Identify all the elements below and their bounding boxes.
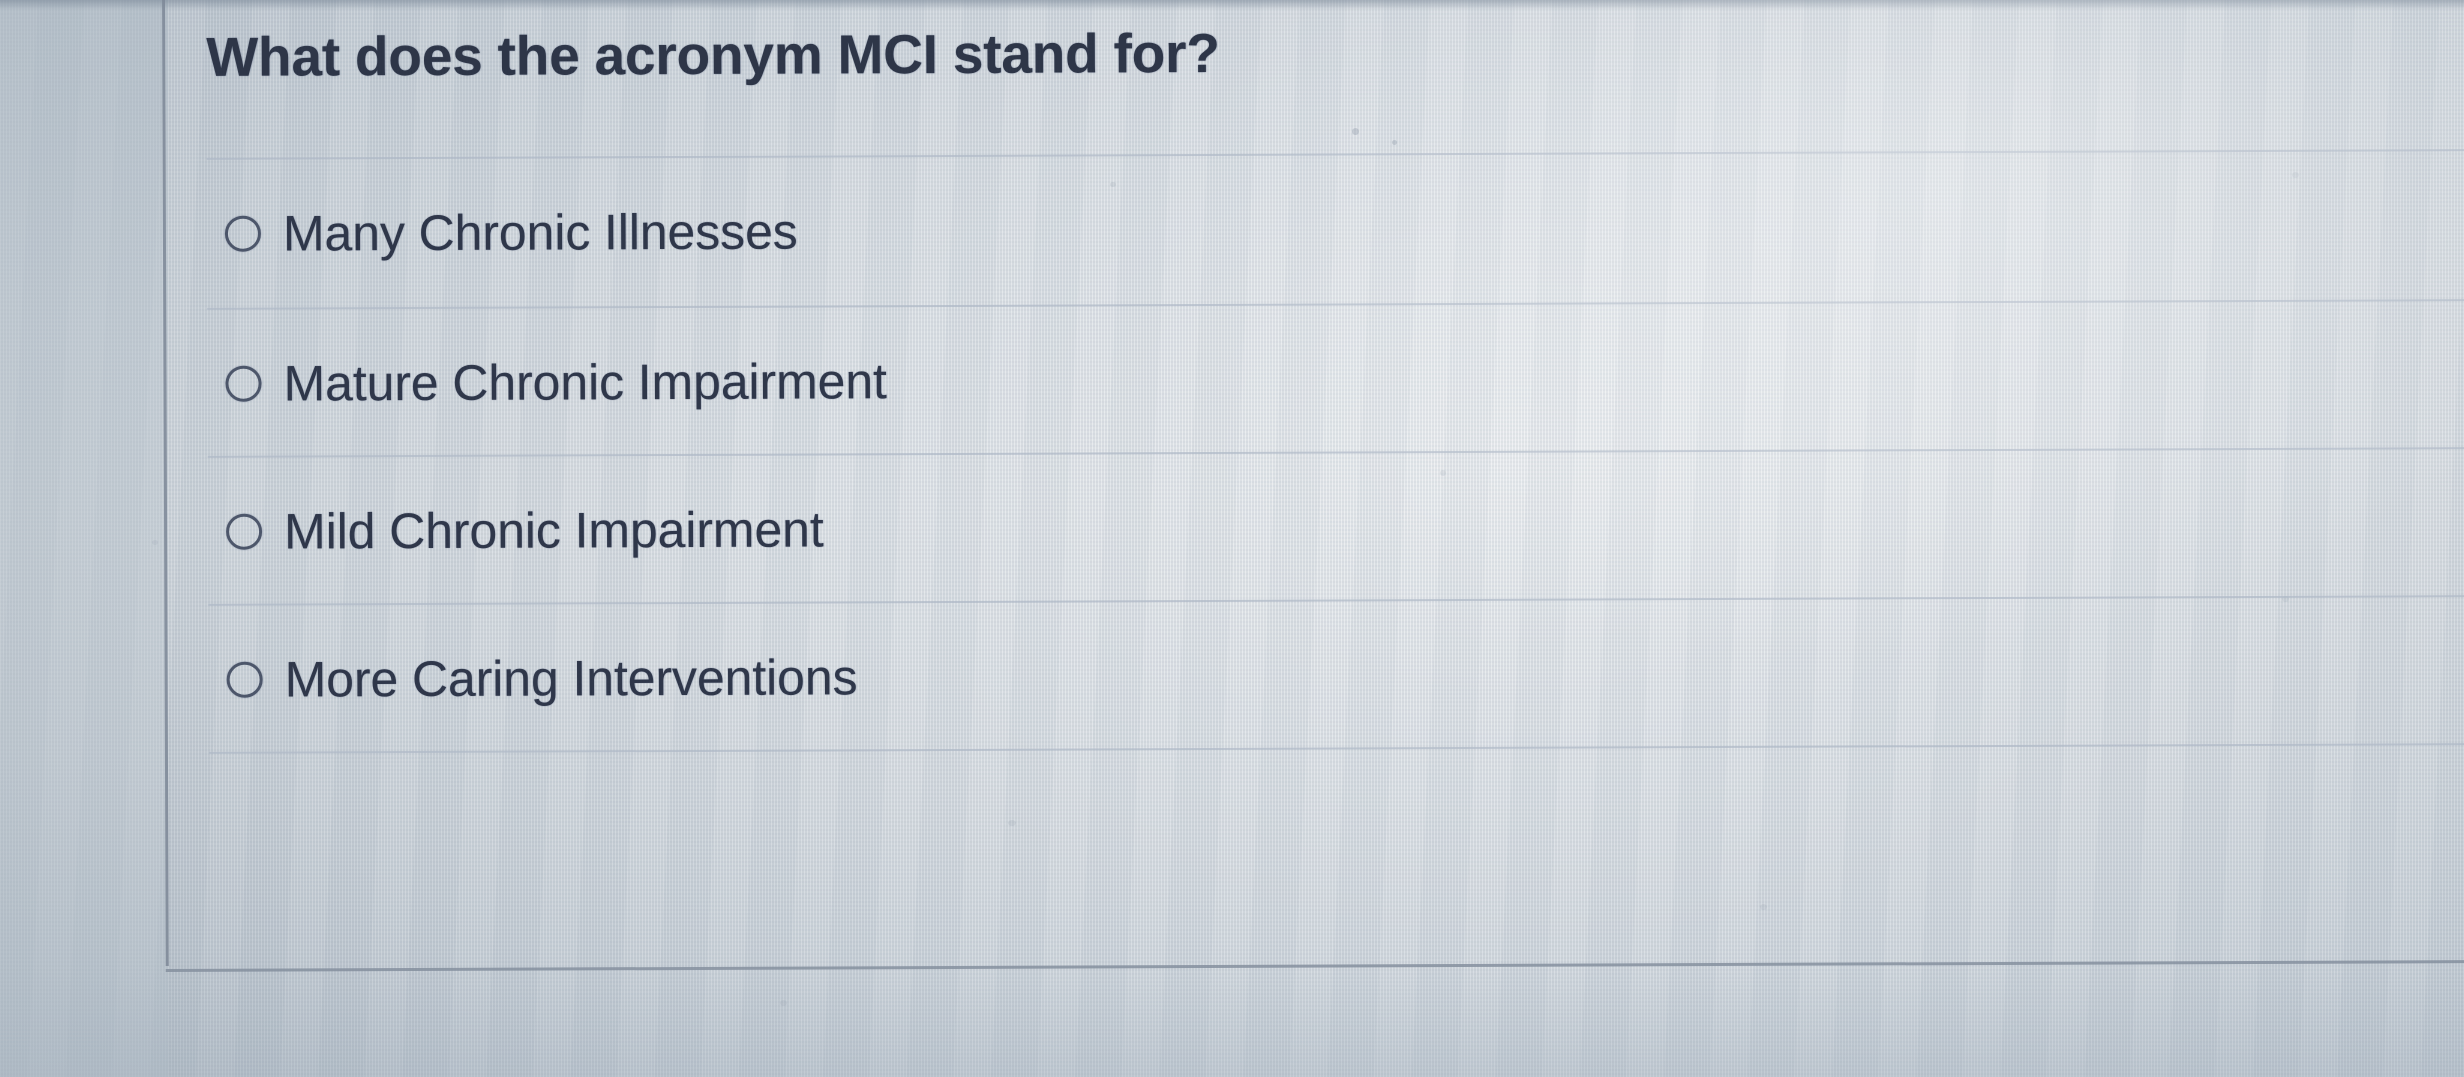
answer-option-3[interactable]: Mild Chronic Impairment — [208, 449, 2464, 606]
question-text: What does the acronym MCI stand for? — [206, 20, 1806, 89]
answer-option-label: Many Chronic Illnesses — [283, 204, 798, 261]
screen-bottom-edge — [0, 965, 2464, 1077]
answer-option-label: Mature Chronic Impairment — [283, 354, 886, 411]
answer-option-label: More Caring Interventions — [285, 650, 858, 707]
page-margin-left — [0, 0, 168, 1077]
question-card: What does the acronym MCI stand for? Man… — [162, 0, 2464, 972]
answer-option-4[interactable]: More Caring Interventions — [208, 597, 2464, 754]
answer-option-1[interactable]: Many Chronic Illnesses — [207, 151, 2464, 308]
photographed-screen: What does the acronym MCI stand for? Man… — [0, 0, 2464, 1077]
radio-button-icon[interactable] — [225, 216, 261, 252]
radio-button-icon[interactable] — [227, 662, 263, 698]
answer-option-label: Mild Chronic Impairment — [284, 502, 824, 559]
answer-options-list: Many Chronic Illnesses Mature Chronic Im… — [207, 149, 2464, 158]
answer-option-2[interactable]: Mature Chronic Impairment — [207, 301, 2464, 458]
radio-button-icon[interactable] — [226, 514, 262, 550]
radio-button-icon[interactable] — [225, 366, 261, 402]
